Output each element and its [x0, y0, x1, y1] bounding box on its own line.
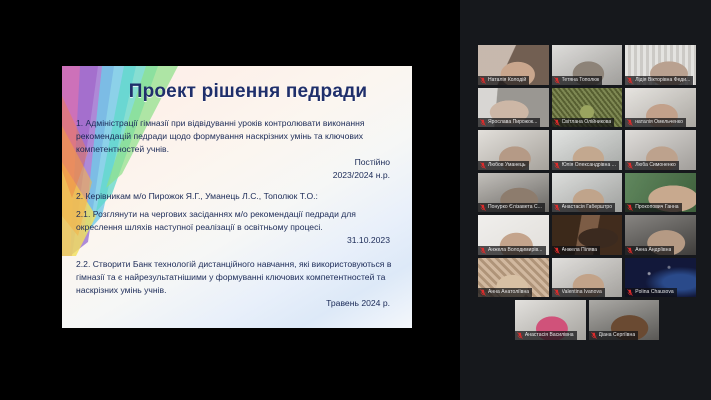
slide-note-deadline-2: 31.10.2023 — [76, 234, 398, 247]
participant-name-badge: наталія Омельченко — [625, 118, 686, 127]
slide-title: Проект рішення педради — [98, 81, 398, 103]
microphone-muted-icon — [480, 162, 486, 169]
slide-paragraph-1: 1. Адміністрації гімназії при відвідуван… — [76, 117, 398, 156]
microphone-muted-icon — [627, 289, 633, 296]
microphone-muted-icon — [627, 247, 633, 254]
participant-name-label: Юлія Олександрівна ... — [562, 162, 616, 169]
participant-gallery[interactable]: Наталія КолодійТетяна ТополюкЛідія Вікто… — [460, 0, 711, 400]
participant-name-label: Анжела Володимирів... — [488, 247, 543, 254]
microphone-muted-icon — [554, 162, 560, 169]
participant-name-badge: Анна Анатоліївна — [478, 288, 532, 297]
participant-row: Наталія КолодійТетяна ТополюкЛідія Вікто… — [478, 45, 696, 85]
participant-name-label: наталія Омельченко — [635, 119, 683, 126]
participant-tile[interactable]: Ярослава Пирожок... — [478, 88, 549, 128]
slide-content: Проект рішення педради 1. Адміністрації … — [62, 66, 412, 328]
participant-name-badge: Лідія Вікторівна Феди... — [625, 76, 693, 85]
participant-tile[interactable]: Лідія Вікторівна Феди... — [625, 45, 696, 85]
participant-name-badge: Любов Уманець — [478, 161, 529, 170]
participant-name-badge: Ярослава Пирожок... — [478, 118, 540, 127]
participant-name-label: Наталія Колодій — [488, 77, 526, 84]
participant-tile[interactable]: Анжела Володимирів... — [478, 215, 549, 255]
participant-name-badge: Світлана Олійникова — [552, 118, 615, 127]
participant-tile[interactable]: Прокопович Ганна — [625, 173, 696, 213]
participant-name-label: Valentina Ivanova — [562, 289, 602, 296]
participant-name-label: Анжела Пілява — [562, 247, 598, 254]
microphone-muted-icon — [480, 119, 486, 126]
participant-tile-grid: Наталія КолодійТетяна ТополюкЛідія Вікто… — [478, 45, 696, 343]
participant-name-label: Ярослава Пирожок... — [488, 119, 537, 126]
slide-note-deadline-1: Постійно — [76, 156, 398, 169]
participant-name-badge: Понурко Єлізавета С... — [478, 203, 545, 212]
participant-name-badge: Анжела Пілява — [552, 246, 601, 255]
participant-tile[interactable]: Юлія Олександрівна ... — [552, 130, 623, 170]
participant-name-badge: Люба Симоненко — [625, 161, 679, 170]
participant-tile[interactable]: Світлана Олійникова — [552, 88, 623, 128]
microphone-muted-icon — [517, 332, 523, 339]
participant-tile[interactable]: Діана Сергіївна — [589, 300, 660, 340]
participant-row: Анна АнатоліївнаValentina IvanovaPolina … — [478, 258, 696, 298]
participant-tile[interactable]: Наталія Колодій — [478, 45, 549, 85]
participant-name-badge: Анжела Володимирів... — [478, 246, 546, 255]
microphone-muted-icon — [554, 204, 560, 211]
participant-name-badge: Прокопович Ганна — [625, 203, 681, 212]
microphone-muted-icon — [480, 247, 486, 254]
slide-paragraph-2-2: 2.2. Створити Банк технологій дистанційн… — [76, 258, 398, 297]
participant-name-badge: Юлія Олександрівна ... — [552, 161, 619, 170]
participant-tile[interactable]: Анастасія Габерштро — [552, 173, 623, 213]
participant-tile[interactable]: Тетяна Тополюк — [552, 45, 623, 85]
presentation-slide: Проект рішення педради 1. Адміністрації … — [62, 66, 412, 328]
participant-row: Анжела Володимирів...Анжела ПіляваАнна А… — [478, 215, 696, 255]
participant-name-label: Тетяна Тополюк — [562, 77, 600, 84]
slide-note-deadline-3: Травень 2024 р. — [76, 297, 398, 310]
microphone-muted-icon — [554, 247, 560, 254]
participant-name-badge: Тетяна Тополюк — [552, 76, 603, 85]
participant-name-label: Люба Симоненко — [635, 162, 676, 169]
participant-tile[interactable]: Понурко Єлізавета С... — [478, 173, 549, 213]
participant-tile[interactable]: наталія Омельченко — [625, 88, 696, 128]
participant-name-label: Лідія Вікторівна Феди... — [635, 77, 690, 84]
participant-tile[interactable]: Люба Симоненко — [625, 130, 696, 170]
participant-row: Понурко Єлізавета С...Анастасія Габерштр… — [478, 173, 696, 213]
participant-tile[interactable]: Любов Уманець — [478, 130, 549, 170]
participant-name-label: Світлана Олійникова — [562, 119, 612, 126]
slide-paragraph-2-1: 2.1. Розглянути на чергових засіданнях м… — [76, 208, 398, 234]
participant-row: Ярослава Пирожок...Світлана Олійникована… — [478, 88, 696, 128]
shared-screen-region[interactable]: Проект рішення педради 1. Адміністрації … — [0, 0, 460, 400]
microphone-muted-icon — [480, 77, 486, 84]
participant-name-label: Анна Андріївна — [635, 247, 671, 254]
participant-name-label: Анастасія Габерштро — [562, 204, 613, 211]
participant-row: Анастасія ВасилівнаДіана Сергіївна — [478, 300, 696, 340]
microphone-muted-icon — [554, 77, 560, 84]
microphone-muted-icon — [480, 289, 486, 296]
participant-tile[interactable]: Анна Анатоліївна — [478, 258, 549, 298]
participant-name-label: Діана Сергіївна — [599, 332, 636, 339]
microphone-muted-icon — [627, 77, 633, 84]
participant-tile[interactable]: Valentina Ivanova — [552, 258, 623, 298]
microphone-muted-icon — [591, 332, 597, 339]
participant-name-badge: Анастасія Василівна — [515, 331, 577, 340]
participant-name-label: Polina Chausova — [635, 289, 674, 296]
microphone-muted-icon — [627, 204, 633, 211]
microphone-muted-icon — [480, 204, 486, 211]
participant-name-label: Прокопович Ганна — [635, 204, 678, 211]
participant-name-badge: Polina Chausova — [625, 288, 677, 297]
participant-name-badge: Анастасія Габерштро — [552, 203, 616, 212]
participant-tile[interactable]: Анна Андріївна — [625, 215, 696, 255]
participant-name-label: Любов Уманець — [488, 162, 526, 169]
participant-tile[interactable]: Polina Chausova — [625, 258, 696, 298]
participant-tile[interactable]: Анжела Пілява — [552, 215, 623, 255]
participant-name-badge: Наталія Колодій — [478, 76, 529, 85]
microphone-muted-icon — [554, 119, 560, 126]
slide-body: 1. Адміністрації гімназії при відвідуван… — [76, 117, 398, 310]
microphone-muted-icon — [554, 289, 560, 296]
slide-paragraph-2: 2. Керівникам м/о Пирожок Я.Г., Уманець … — [76, 190, 398, 203]
participant-name-label: Анна Анатоліївна — [488, 289, 529, 296]
slide-note-year: 2023/2024 н.р. — [76, 169, 398, 182]
participant-row: Любов УманецьЮлія Олександрівна ...Люба … — [478, 130, 696, 170]
microphone-muted-icon — [627, 162, 633, 169]
participant-name-badge: Valentina Ivanova — [552, 288, 605, 297]
participant-name-label: Понурко Єлізавета С... — [488, 204, 542, 211]
participant-name-label: Анастасія Василівна — [525, 332, 574, 339]
participant-name-badge: Анна Андріївна — [625, 246, 674, 255]
participant-name-badge: Діана Сергіївна — [589, 331, 639, 340]
microphone-muted-icon — [627, 119, 633, 126]
zoom-meeting-window: Проект рішення педради 1. Адміністрації … — [0, 0, 711, 400]
participant-tile[interactable]: Анастасія Василівна — [515, 300, 586, 340]
